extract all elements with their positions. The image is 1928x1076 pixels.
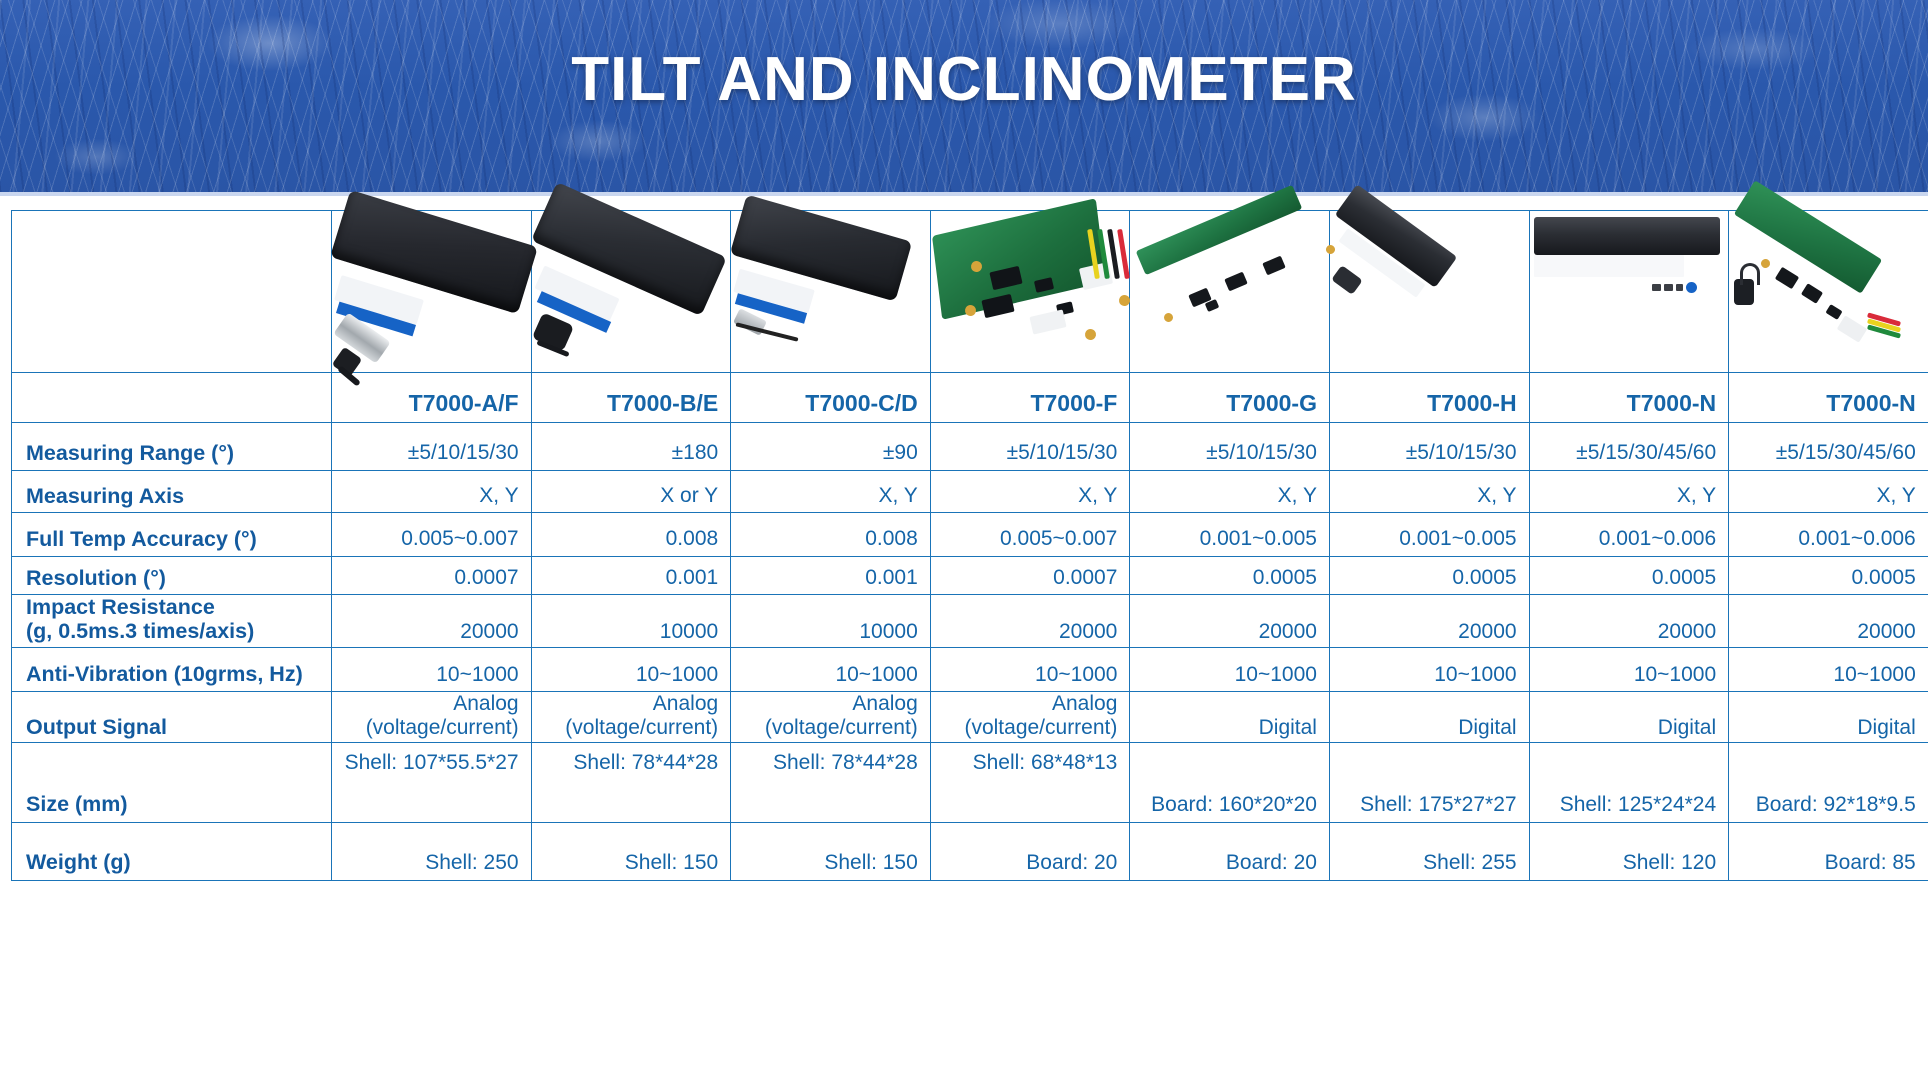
- model-cell-3: T7000-C/D: [731, 373, 931, 423]
- product-image-cell-6: [1329, 211, 1529, 373]
- cell-size-8: Board: 92*18*9.5: [1729, 743, 1928, 823]
- cell-measuring-range-3: ±90: [731, 423, 931, 471]
- cell-accuracy-7: 0.001~0.006: [1529, 513, 1729, 557]
- cell-weight-7: Shell: 120: [1529, 823, 1729, 881]
- cell-output-8: Digital: [1729, 692, 1928, 743]
- cell-measuring-range-2: ±180: [531, 423, 731, 471]
- cell-output-6: Digital: [1329, 692, 1529, 743]
- cell-output-2: Analog (voltage/current): [531, 692, 731, 743]
- row-label-anti-vibration: Anti-Vibration (10grms, Hz): [12, 648, 332, 692]
- product-image-cell-1: [332, 211, 532, 373]
- model-cell-5: T7000-G: [1130, 373, 1330, 423]
- black-shell-usb-style-sensor-icon: [1534, 217, 1725, 367]
- cell-size-4: Shell: 68*48*13: [930, 743, 1130, 823]
- banner-bottom-rule: [0, 192, 1928, 196]
- model-cell-6: T7000-H: [1329, 373, 1529, 423]
- product-image-cell-5: [1130, 211, 1330, 373]
- cell-impact-4: 20000: [930, 595, 1130, 648]
- cell-measuring-range-1: ±5/10/15/30: [332, 423, 532, 471]
- row-resolution: Resolution (°) 0.0007 0.001 0.001 0.0007…: [12, 557, 1928, 595]
- product-image-row: [12, 211, 1928, 373]
- product-image-cell-3: [731, 211, 931, 373]
- output-line2: (voltage/current): [544, 716, 719, 740]
- cell-weight-5: Board: 20: [1130, 823, 1330, 881]
- cell-output-4: Analog (voltage/current): [930, 692, 1130, 743]
- cell-size-5: Board: 160*20*20: [1130, 743, 1330, 823]
- cell-impact-5: 20000: [1130, 595, 1330, 648]
- cell-weight-2: Shell: 150: [531, 823, 731, 881]
- model-cell-8: T7000-N: [1729, 373, 1928, 423]
- row-size: Size (mm) Shell: 107*55.5*27 Shell: 78*4…: [12, 743, 1928, 823]
- green-board-with-ribbon-cable-icon: [1733, 217, 1924, 367]
- black-bar-sensor-icon: [1334, 217, 1525, 367]
- cell-size-6: Shell: 175*27*27: [1329, 743, 1529, 823]
- cell-accuracy-1: 0.005~0.007: [332, 513, 532, 557]
- output-line1: Analog: [743, 692, 918, 716]
- cell-measuring-range-6: ±5/10/15/30: [1329, 423, 1529, 471]
- cell-accuracy-5: 0.001~0.005: [1130, 513, 1330, 557]
- cell-measuring-axis-8: X, Y: [1729, 471, 1928, 513]
- cell-output-7: Digital: [1529, 692, 1729, 743]
- cell-measuring-axis-7: X, Y: [1529, 471, 1729, 513]
- cell-resolution-4: 0.0007: [930, 557, 1130, 595]
- output-line1: Analog: [544, 692, 719, 716]
- green-pcb-board-with-wires-icon: [935, 217, 1126, 367]
- impact-label-line1: Impact Resistance: [26, 595, 319, 619]
- specification-table: T7000-A/F T7000-B/E T7000-C/D T7000-F T7…: [11, 210, 1928, 881]
- row-label-weight: Weight (g): [12, 823, 332, 881]
- cell-output-5: Digital: [1130, 692, 1330, 743]
- cell-size-1: Shell: 107*55.5*27: [332, 743, 532, 823]
- cell-accuracy-8: 0.001~0.006: [1729, 513, 1928, 557]
- row-impact-resistance: Impact Resistance (g, 0.5ms.3 times/axis…: [12, 595, 1928, 648]
- cell-impact-3: 10000: [731, 595, 931, 648]
- green-stick-pcb-module-icon: [1134, 217, 1325, 367]
- impact-label-line2: (g, 0.5ms.3 times/axis): [26, 619, 319, 643]
- cell-measuring-axis-5: X, Y: [1130, 471, 1330, 513]
- cell-measuring-range-8: ±5/15/30/45/60: [1729, 423, 1928, 471]
- cell-accuracy-3: 0.008: [731, 513, 931, 557]
- cell-weight-4: Board: 20: [930, 823, 1130, 881]
- row-label-size: Size (mm): [12, 743, 332, 823]
- cell-impact-7: 20000: [1529, 595, 1729, 648]
- row-measuring-axis: Measuring Axis X, Y X or Y X, Y X, Y X, …: [12, 471, 1928, 513]
- row-label-measuring-axis: Measuring Axis: [12, 471, 332, 513]
- cell-accuracy-2: 0.008: [531, 513, 731, 557]
- cell-resolution-1: 0.0007: [332, 557, 532, 595]
- cell-output-3: Analog (voltage/current): [731, 692, 931, 743]
- cell-vibration-4: 10~1000: [930, 648, 1130, 692]
- row-anti-vibration: Anti-Vibration (10grms, Hz) 10~1000 10~1…: [12, 648, 1928, 692]
- page-banner: TILT AND INCLINOMETER: [0, 0, 1928, 196]
- cell-weight-1: Shell: 250: [332, 823, 532, 881]
- cell-weight-8: Board: 85: [1729, 823, 1928, 881]
- cell-resolution-6: 0.0005: [1329, 557, 1529, 595]
- cell-resolution-5: 0.0005: [1130, 557, 1330, 595]
- model-name-row: T7000-A/F T7000-B/E T7000-C/D T7000-F T7…: [12, 373, 1928, 423]
- output-line2: (voltage/current): [743, 716, 918, 740]
- output-line1: Analog: [943, 692, 1118, 716]
- row-full-temp-accuracy: Full Temp Accuracy (°) 0.005~0.007 0.008…: [12, 513, 1928, 557]
- cell-weight-3: Shell: 150: [731, 823, 931, 881]
- product-image-cell-7: [1529, 211, 1729, 373]
- output-line2: (voltage/current): [943, 716, 1118, 740]
- cell-measuring-axis-2: X or Y: [531, 471, 731, 513]
- cell-measuring-axis-6: X, Y: [1329, 471, 1529, 513]
- cell-resolution-2: 0.001: [531, 557, 731, 595]
- row-output-signal: Output Signal Analog (voltage/current) A…: [12, 692, 1928, 743]
- cell-vibration-1: 10~1000: [332, 648, 532, 692]
- cell-accuracy-6: 0.001~0.005: [1329, 513, 1529, 557]
- cell-size-7: Shell: 125*24*24: [1529, 743, 1729, 823]
- black-shell-sensor-with-cable-icon: [735, 217, 926, 367]
- cell-vibration-8: 10~1000: [1729, 648, 1928, 692]
- black-shell-sensor-with-metal-connector-icon: [336, 217, 527, 367]
- cell-impact-6: 20000: [1329, 595, 1529, 648]
- cell-accuracy-4: 0.005~0.007: [930, 513, 1130, 557]
- cell-size-2: Shell: 78*44*28: [531, 743, 731, 823]
- black-shell-sensor-with-black-connector-icon: [536, 217, 727, 367]
- cell-resolution-8: 0.0005: [1729, 557, 1928, 595]
- cell-measuring-range-7: ±5/15/30/45/60: [1529, 423, 1729, 471]
- spec-table-container: T7000-A/F T7000-B/E T7000-C/D T7000-F T7…: [0, 210, 1928, 881]
- product-image-cell-4: [930, 211, 1130, 373]
- cell-impact-1: 20000: [332, 595, 532, 648]
- cell-vibration-3: 10~1000: [731, 648, 931, 692]
- cell-vibration-7: 10~1000: [1529, 648, 1729, 692]
- model-cell-7: T7000-N: [1529, 373, 1729, 423]
- output-line2: (voltage/current): [344, 716, 519, 740]
- cell-vibration-2: 10~1000: [531, 648, 731, 692]
- output-line1: Analog: [344, 692, 519, 716]
- product-image-cell-8: [1729, 211, 1928, 373]
- cell-output-1: Analog (voltage/current): [332, 692, 532, 743]
- model-cell-4: T7000-F: [930, 373, 1130, 423]
- row-label-output-signal: Output Signal: [12, 692, 332, 743]
- cell-measuring-range-4: ±5/10/15/30: [930, 423, 1130, 471]
- cell-resolution-3: 0.001: [731, 557, 931, 595]
- model-row-label: [12, 373, 332, 423]
- row-label-impact-resistance: Impact Resistance (g, 0.5ms.3 times/axis…: [12, 595, 332, 648]
- cell-measuring-range-5: ±5/10/15/30: [1130, 423, 1330, 471]
- row-weight: Weight (g) Shell: 250 Shell: 150 Shell: …: [12, 823, 1928, 881]
- table-corner-cell: [12, 211, 332, 373]
- page-title: TILT AND INCLINOMETER: [0, 44, 1928, 115]
- model-cell-1: T7000-A/F: [332, 373, 532, 423]
- cell-vibration-5: 10~1000: [1130, 648, 1330, 692]
- cell-resolution-7: 0.0005: [1529, 557, 1729, 595]
- cell-impact-2: 10000: [531, 595, 731, 648]
- product-image-cell-2: [531, 211, 731, 373]
- row-measuring-range: Measuring Range (°) ±5/10/15/30 ±180 ±90…: [12, 423, 1928, 471]
- cell-measuring-axis-1: X, Y: [332, 471, 532, 513]
- cell-weight-6: Shell: 255: [1329, 823, 1529, 881]
- cell-vibration-6: 10~1000: [1329, 648, 1529, 692]
- cell-size-3: Shell: 78*44*28: [731, 743, 931, 823]
- row-label-full-temp-accuracy: Full Temp Accuracy (°): [12, 513, 332, 557]
- cell-measuring-axis-3: X, Y: [731, 471, 931, 513]
- row-label-resolution: Resolution (°): [12, 557, 332, 595]
- cell-impact-8: 20000: [1729, 595, 1928, 648]
- cell-measuring-axis-4: X, Y: [930, 471, 1130, 513]
- model-cell-2: T7000-B/E: [531, 373, 731, 423]
- row-label-measuring-range: Measuring Range (°): [12, 423, 332, 471]
